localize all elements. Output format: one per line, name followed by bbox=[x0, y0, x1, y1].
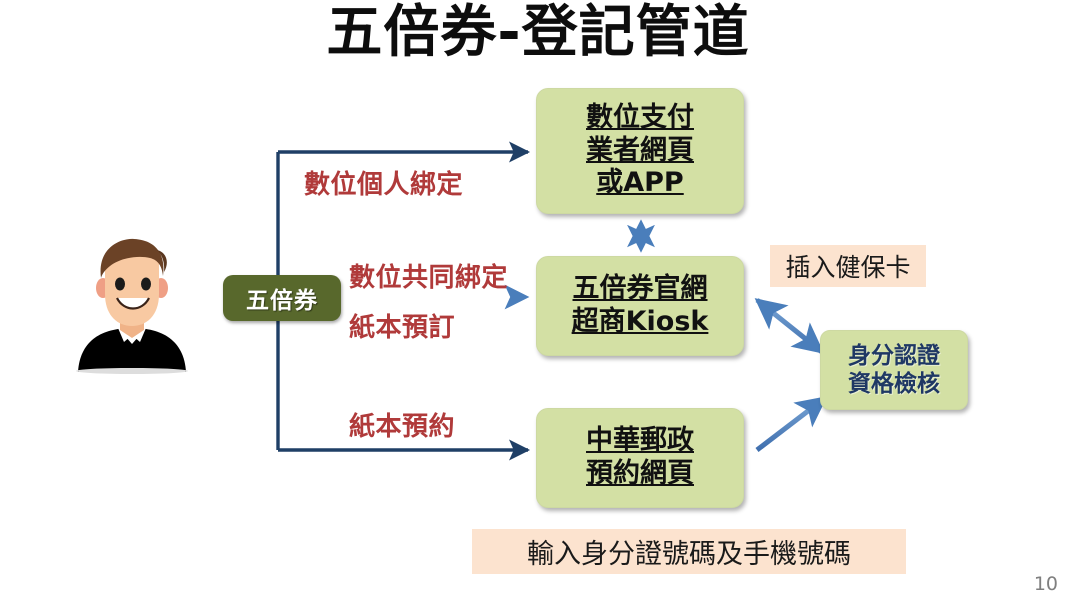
verification-box[interactable]: 身分認證 資格檢核 bbox=[820, 330, 968, 410]
channel-line: 中華郵政 bbox=[586, 425, 694, 458]
verification-line: 資格檢核 bbox=[848, 370, 940, 398]
verification-line: 身分認證 bbox=[848, 342, 940, 370]
channel-box-digital-payment[interactable]: 數位支付 業者網頁 或APP bbox=[536, 88, 744, 214]
channel-box-official-site-kiosk[interactable]: 五倍券官網 超商Kiosk bbox=[536, 256, 744, 356]
connector-kiosk-verification-bidirectional bbox=[757, 300, 822, 352]
callout-identity-input: 輸入身分證號碼及手機號碼 bbox=[472, 529, 906, 574]
channel-line: 超商Kiosk bbox=[572, 306, 709, 339]
source-node-voucher[interactable]: 五倍券 bbox=[223, 275, 341, 321]
slide-canvas: 五倍券-登記管道 bbox=[0, 0, 1076, 603]
channel-box-chunghwa-post[interactable]: 中華郵政 預約網頁 bbox=[536, 408, 744, 508]
connector-post-to-verification bbox=[757, 398, 825, 450]
channel-line: 業者網頁 bbox=[586, 135, 694, 168]
branch-label-digital-personal: 數位個人綁定 bbox=[304, 164, 463, 201]
branch-label-paper-booking: 紙本預約 bbox=[349, 406, 455, 443]
channel-line: 預約網頁 bbox=[586, 458, 694, 491]
channel-line: 五倍券官網 bbox=[573, 273, 708, 306]
callout-health-card: 插入健保卡 bbox=[770, 245, 926, 287]
source-node-label: 五倍券 bbox=[246, 281, 318, 315]
branch-label-paper-order: 紙本預訂 bbox=[349, 307, 455, 344]
page-number: 10 bbox=[1034, 573, 1058, 595]
branch-label-digital-joint: 數位共同綁定 bbox=[349, 257, 508, 294]
channel-line: 數位支付 bbox=[586, 102, 694, 135]
channel-line: 或APP bbox=[596, 167, 683, 200]
